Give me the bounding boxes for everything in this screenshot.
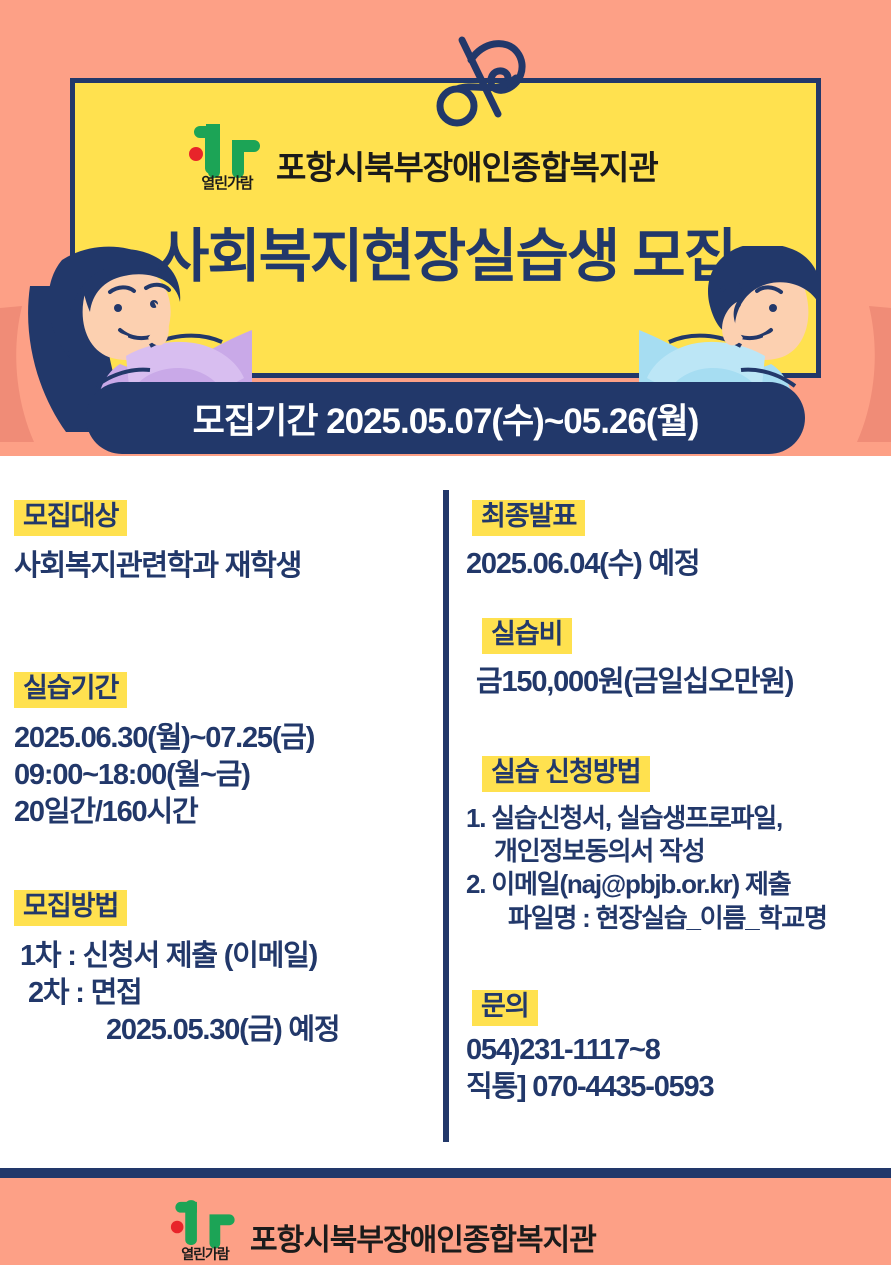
column-divider	[443, 490, 449, 1142]
block-application-line-2: 2. 이메일(naj@pbjb.or.kr) 제출	[466, 868, 827, 901]
block-target: 모집대상 사회복지관련학과 재학생	[14, 500, 301, 585]
block-method: 모집방법 1차 : 신청서 제출 (이메일) 2차 : 면접 2025.05.3…	[14, 890, 339, 1049]
block-application-line-0: 1. 실습신청서, 실습생프로파일,	[466, 802, 827, 835]
block-practice-period-line-2: 20일간/160시간	[14, 794, 314, 831]
footer-org-name: 포항시북부장애인종합복지관	[250, 1226, 596, 1260]
block-target-line-0: 사회복지관련학과 재학생	[14, 548, 301, 585]
logo-subtitle: 열린가람	[188, 172, 266, 193]
recruitment-period-text: 모집기간 2025.05.07(수)~05.26(월)	[193, 393, 699, 444]
recruitment-period-badge: 모집기간 2025.05.07(수)~05.26(월)	[86, 382, 805, 454]
block-stipend-line-0: 금150,000원(금일십오만원)	[476, 664, 793, 701]
logo-subtitle: 열린가람	[170, 1244, 240, 1264]
block-practice-period-heading: 실습기간	[14, 672, 127, 708]
block-target-heading: 모집대상	[14, 500, 127, 536]
details-section: 모집대상 사회복지관련학과 재학생 실습기간 2025.06.30(월)~07.…	[0, 456, 891, 1168]
footer: 열린가람 포항시북부장애인종합복지관	[0, 1178, 891, 1260]
block-application-heading: 실습 신청방법	[482, 756, 650, 792]
footer-logo-lockup: 열린가람 포항시북부장애인종합복지관	[170, 1194, 596, 1260]
header-logo-lockup: 열린가람 포항시북부장애인종합복지관	[188, 118, 658, 190]
block-method-heading: 모집방법	[14, 890, 127, 926]
block-contact-line-1: 직통] 070-4435-0593	[466, 1069, 713, 1106]
page-title: 사회복지현장실습생 모집	[0, 228, 891, 286]
poster-root: 열린가람 포항시북부장애인종합복지관	[0, 0, 891, 1260]
block-practice-period: 실습기간 2025.06.30(월)~07.25(금) 09:00~18:00(…	[14, 672, 314, 831]
block-practice-period-line-1: 09:00~18:00(월~금)	[14, 757, 314, 794]
block-method-line-1: 2차 : 면접	[28, 975, 339, 1012]
block-contact-line-0: 054)231-1117~8	[466, 1032, 713, 1069]
block-final-announcement-heading: 최종발표	[472, 500, 585, 536]
block-stipend-heading: 실습비	[482, 618, 572, 654]
top-banner: 열린가람 포항시북부장애인종합복지관	[0, 0, 891, 456]
block-application: 실습 신청방법 1. 실습신청서, 실습생프로파일, 개인정보동의서 작성 2.…	[482, 756, 827, 935]
block-practice-period-line-0: 2025.06.30(월)~07.25(금)	[14, 720, 314, 757]
block-method-line-0: 1차 : 신청서 제출 (이메일)	[20, 938, 339, 975]
safety-pin-icon	[424, 18, 544, 128]
footer-divider	[0, 1168, 891, 1178]
header-org-name: 포항시북부장애인종합복지관	[276, 151, 658, 190]
block-contact: 문의 054)231-1117~8 직통] 070-4435-0593	[472, 990, 713, 1106]
block-application-line-3: 파일명 : 현장실습_이름_학교명	[508, 902, 827, 935]
yeollin-garam-logo-icon: 열린가람	[188, 118, 266, 190]
block-final-announcement: 최종발표 2025.06.04(수) 예정	[472, 500, 699, 583]
block-method-line-2: 2025.05.30(금) 예정	[106, 1012, 339, 1049]
block-stipend: 실습비 금150,000원(금일십오만원)	[482, 618, 793, 701]
block-contact-heading: 문의	[472, 990, 538, 1026]
block-application-line-1: 개인정보동의서 작성	[494, 835, 827, 868]
block-final-announcement-line-0: 2025.06.04(수) 예정	[466, 546, 699, 583]
yeollin-garam-logo-icon: 열린가람	[170, 1194, 240, 1260]
